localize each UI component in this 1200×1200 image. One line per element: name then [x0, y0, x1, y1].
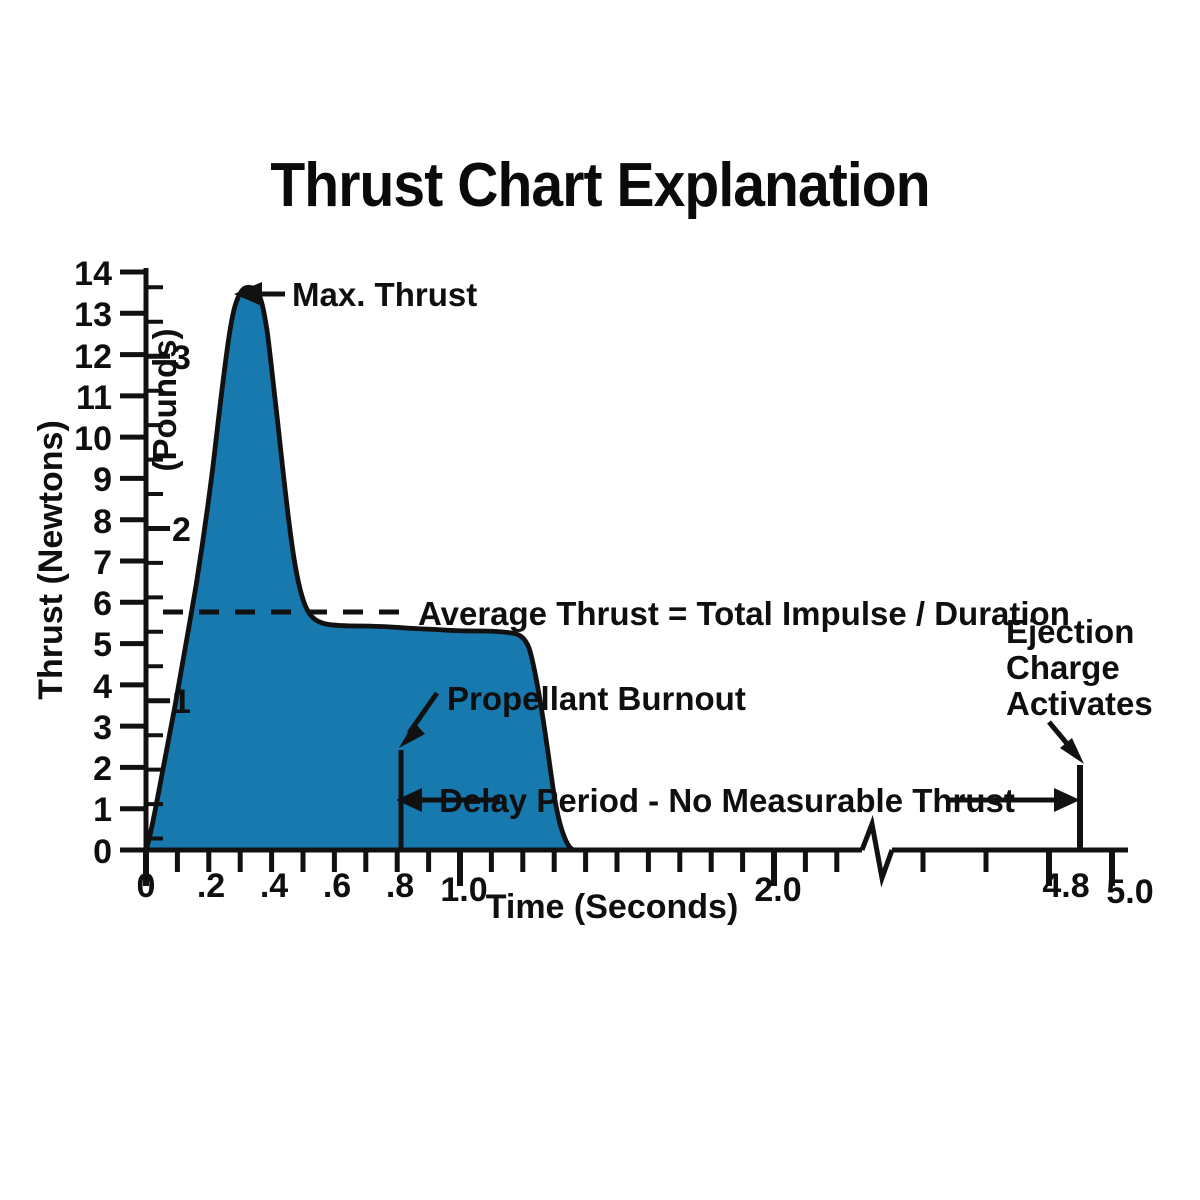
max-thrust-label: Max. Thrust: [292, 276, 477, 313]
x-tick-label: .2: [197, 867, 225, 905]
x-axis-title: Time (Seconds): [486, 888, 739, 926]
max-thrust-annotation: Max. Thrust: [234, 276, 477, 313]
ejection-charge-label-line3: Activates: [1006, 685, 1153, 722]
y-tick-label: 4: [93, 668, 112, 706]
y-axis-title: Thrust (Newtons): [32, 420, 70, 700]
y-tick-label: 9: [93, 461, 112, 499]
thrust-curve-group: [146, 287, 574, 850]
ejection-charge-label-line1: Ejection: [1006, 613, 1134, 650]
y-tick-label: 3: [93, 709, 112, 747]
y-tick-label: 10: [74, 420, 112, 458]
thrust-chart-figure: 0 1 2 3 4 5 6 7 8 9 10 11 12 13 14 1 2 3…: [0, 0, 1200, 1200]
x-tick-label: 5.0: [1106, 873, 1153, 911]
propellant-burnout-label: Propellant Burnout: [447, 680, 746, 717]
delay-arrow-head-right: [1054, 788, 1080, 812]
y-tick-label: 14: [74, 255, 112, 293]
y-tick-label: 7: [93, 544, 112, 582]
y2-tick-label: 1: [172, 683, 191, 721]
y-tick-label: 1: [93, 791, 112, 829]
y-tick-label: 0: [93, 833, 112, 871]
y-tick-label: 12: [74, 338, 112, 376]
delay-period-annotation: Delay Period - No Measurable Thrust: [396, 782, 1080, 819]
average-thrust-label: Average Thrust = Total Impulse / Duratio…: [418, 595, 1070, 632]
y-axis-newton-ticks: [120, 272, 146, 850]
y-tick-label: 13: [74, 296, 112, 334]
y-tick-label: 8: [93, 503, 112, 541]
axis-break-zigzag: [862, 824, 892, 878]
x-tick-label: 1.0: [440, 871, 487, 909]
x-axis-ticks-left: [146, 850, 837, 886]
x-tick-label: .4: [260, 867, 288, 905]
y-tick-label: 2: [93, 750, 112, 788]
y-tick-label: 5: [93, 626, 112, 664]
x-tick-label: 0: [137, 867, 156, 905]
y-tick-label: 6: [93, 585, 112, 623]
ejection-charge-annotation: Ejection Charge Activates: [1006, 613, 1153, 850]
x-tick-label: 2.0: [754, 871, 801, 909]
y-axis-newton-labels: 0 1 2 3 4 5 6 7 8 9 10 11 12 13 14: [74, 255, 112, 871]
y2-tick-label: 2: [172, 511, 191, 549]
y-tick-label: 11: [76, 379, 112, 417]
thrust-chart-page: Thrust Chart Explanation: [0, 0, 1200, 1200]
x-tick-label: 4.8: [1042, 867, 1089, 905]
delay-period-label: Delay Period - No Measurable Thrust: [439, 782, 1015, 819]
ejection-charge-label-line2: Charge: [1006, 649, 1120, 686]
x-tick-label: .6: [323, 867, 351, 905]
x-tick-label: .8: [386, 867, 414, 905]
y-axis-secondary-title: (Pounds): [146, 329, 183, 472]
